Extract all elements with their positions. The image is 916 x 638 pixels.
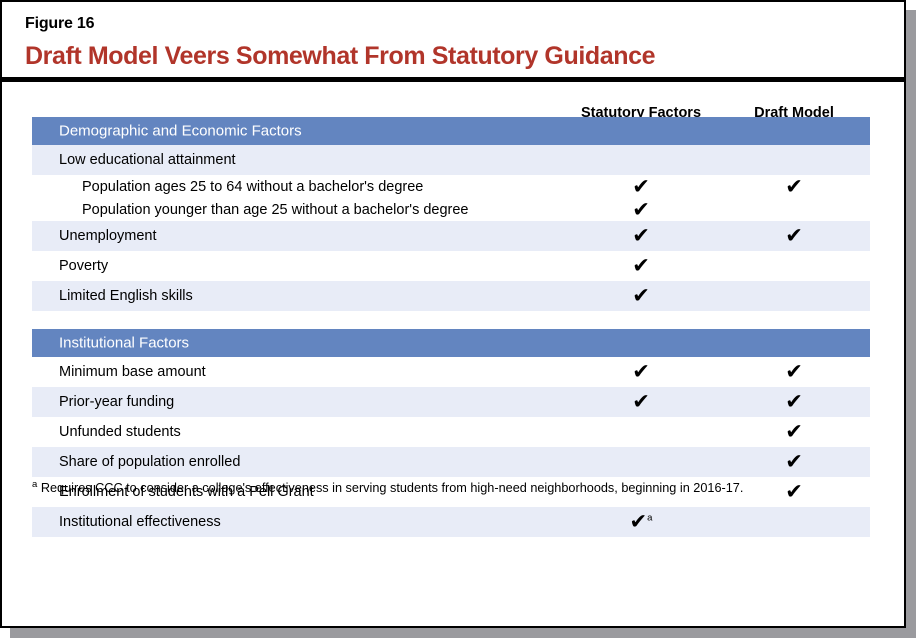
row-label: Minimum base amount bbox=[59, 364, 206, 380]
section-header-label: Demographic and Economic Factors bbox=[59, 123, 302, 140]
row-label: Unfunded students bbox=[59, 424, 181, 440]
checkmark-icon: ✔ bbox=[632, 226, 650, 247]
section-spacer bbox=[32, 311, 870, 329]
section-header-row: Demographic and Economic Factors bbox=[32, 117, 870, 145]
row-label: Institutional effectiveness bbox=[59, 514, 221, 530]
row-label: Poverty bbox=[59, 258, 108, 274]
checkmark-icon: ✔ bbox=[785, 452, 803, 473]
row-label: Share of population enrolled bbox=[59, 454, 240, 470]
row-label: Population ages 25 to 64 without a bache… bbox=[82, 179, 423, 195]
checkmark-icon: ✔ bbox=[632, 286, 650, 307]
figure-container: Figure 16 Draft Model Veers Somewhat Fro… bbox=[0, 0, 906, 628]
checkmark-icon: ✔a bbox=[630, 512, 653, 533]
checkmark-icon: ✔ bbox=[785, 392, 803, 413]
checkmark-icon: ✔ bbox=[632, 362, 650, 383]
checkmark-icon: ✔ bbox=[785, 362, 803, 383]
footnote-text: Requires CCC to consider a college's eff… bbox=[41, 481, 744, 495]
section-header-row: Institutional Factors bbox=[32, 329, 870, 357]
checkmark-icon: ✔ bbox=[785, 226, 803, 247]
row-label: Low educational attainment bbox=[59, 152, 236, 168]
checkmark-footnote-marker: a bbox=[647, 513, 652, 524]
table-row: Minimum base amount✔✔ bbox=[32, 357, 870, 387]
table-row: Unfunded students✔ bbox=[32, 417, 870, 447]
checkmark-icon: ✔ bbox=[632, 176, 650, 197]
figure-shadow-bottom bbox=[10, 628, 916, 638]
row-label: Population younger than age 25 without a… bbox=[82, 202, 469, 218]
table-row: Poverty✔ bbox=[32, 251, 870, 281]
figure-shadow-right bbox=[906, 10, 916, 638]
checkmark-icon: ✔ bbox=[632, 199, 650, 220]
checkmark-icon: ✔ bbox=[632, 392, 650, 413]
comparison-table: Statutory Factors Draft Model Demographi… bbox=[2, 87, 904, 626]
table-row: Population ages 25 to 64 without a bache… bbox=[32, 175, 870, 198]
figure-title: Draft Model Veers Somewhat From Statutor… bbox=[25, 42, 904, 71]
figure-number-label: Figure 16 bbox=[25, 15, 904, 33]
table-row: Share of population enrolled✔ bbox=[32, 447, 870, 477]
row-label: Unemployment bbox=[59, 228, 157, 244]
table-row: Population younger than age 25 without a… bbox=[32, 198, 870, 221]
table-column-headers: Statutory Factors Draft Model bbox=[2, 87, 904, 117]
table-body: Demographic and Economic FactorsLow educ… bbox=[2, 117, 904, 537]
figure-title-block: Figure 16 Draft Model Veers Somewhat Fro… bbox=[2, 2, 904, 82]
row-label: Prior-year funding bbox=[59, 394, 174, 410]
footnote-marker: a bbox=[32, 479, 37, 490]
row-label: Limited English skills bbox=[59, 288, 193, 304]
table-row: Limited English skills✔ bbox=[32, 281, 870, 311]
checkmark-icon: ✔ bbox=[785, 422, 803, 443]
checkmark-icon: ✔ bbox=[632, 256, 650, 277]
checkmark-icon: ✔ bbox=[785, 176, 803, 197]
footnote-block: a Requires CCC to consider a college's e… bbox=[32, 479, 877, 497]
section-header-label: Institutional Factors bbox=[59, 335, 189, 352]
table-row: Low educational attainment bbox=[32, 145, 870, 175]
table-row: Unemployment✔✔ bbox=[32, 221, 870, 251]
table-row: Prior-year funding✔✔ bbox=[32, 387, 870, 417]
table-row: Institutional effectiveness✔a bbox=[32, 507, 870, 537]
